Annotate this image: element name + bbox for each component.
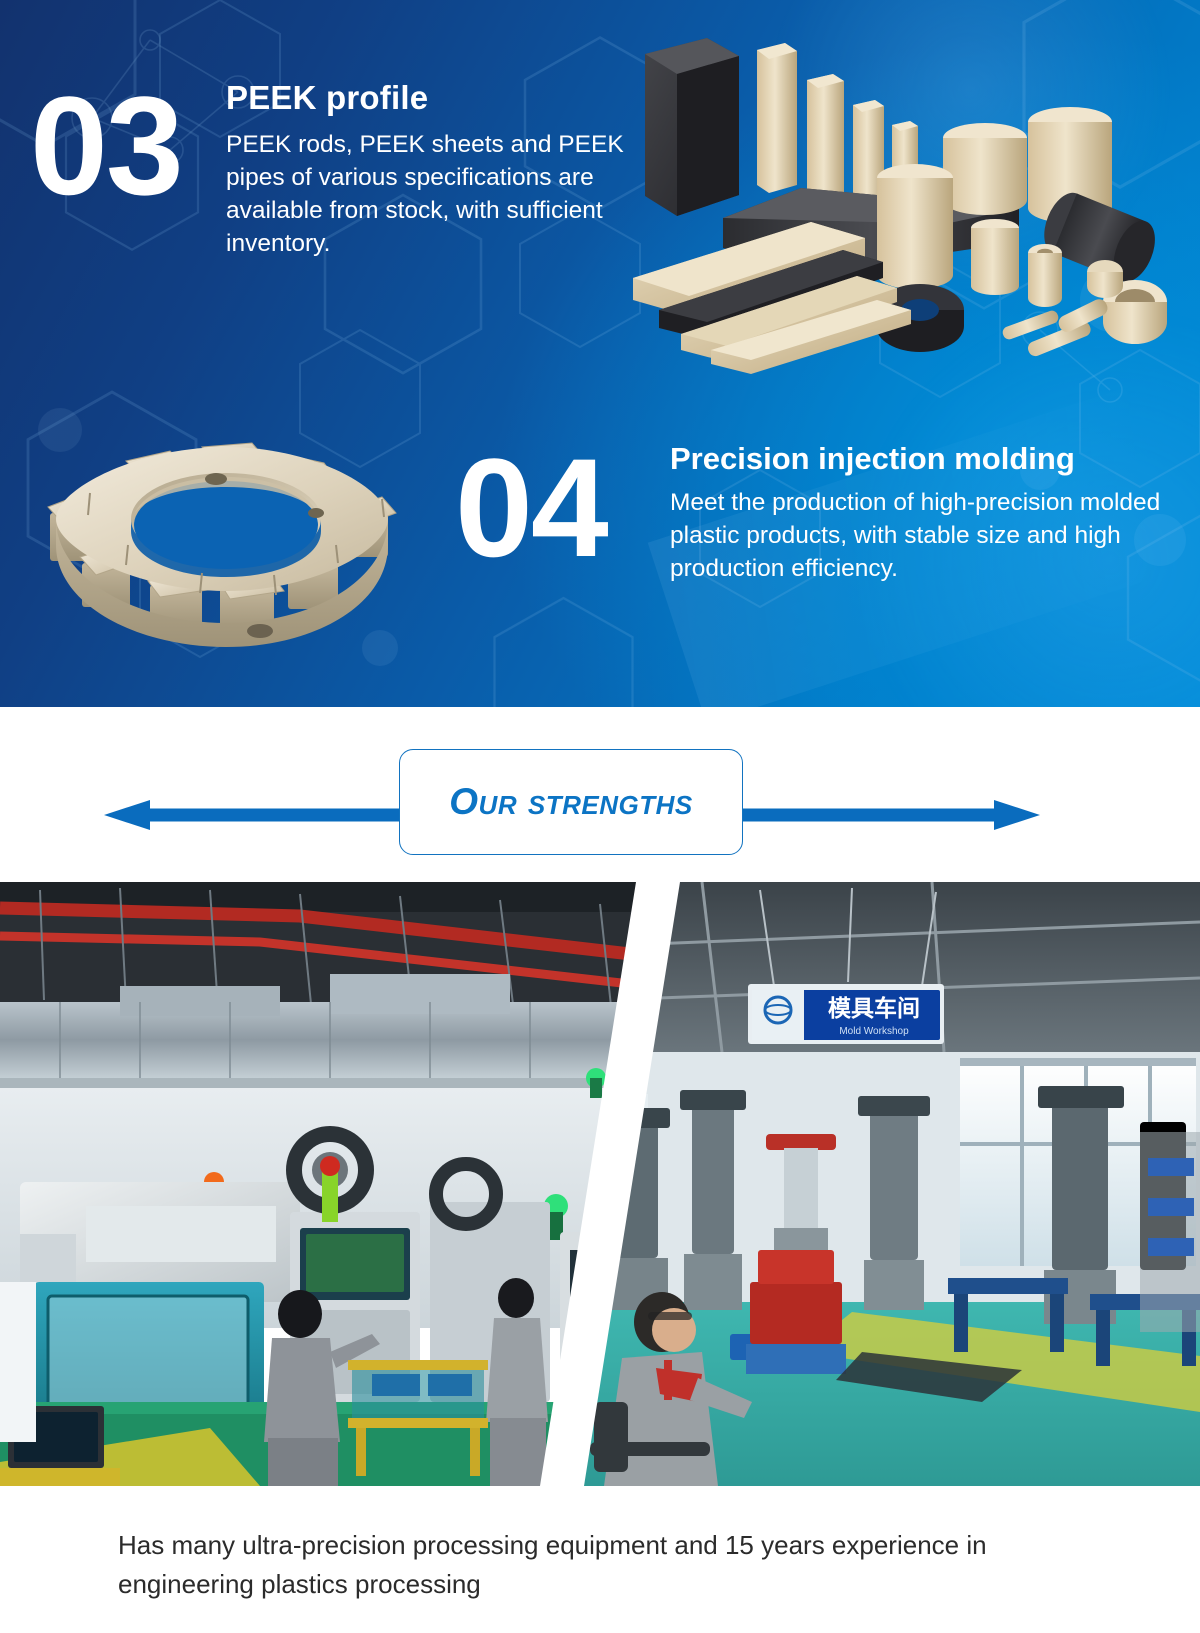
- mold-workshop-sign-en-text: Mold Workshop: [839, 1026, 909, 1037]
- peek-gear-ring-photo: [30, 395, 430, 670]
- feature-block-03: 03 PEEK profile PEEK rods, PEEK sheets a…: [30, 78, 670, 260]
- feature-number-04: 04: [455, 448, 607, 568]
- feature-body-04: Meet the production of high-precision mo…: [670, 486, 1175, 585]
- strengths-label-box: Our strengths: [399, 749, 743, 855]
- feature-title-04: Precision injection molding: [670, 440, 1175, 478]
- mold-workshop-sign-cn-text: 模具车间: [828, 995, 920, 1021]
- poster-page: 03 PEEK profile PEEK rods, PEEK sheets a…: [0, 0, 1200, 1633]
- bottom-caption: Has many ultra-precision processing equi…: [118, 1526, 1108, 1604]
- feature-block-04: 04 Precision injection molding Meet the …: [455, 440, 1175, 585]
- strengths-banner: Our strengths: [0, 707, 1200, 882]
- feature-body-03: PEEK rods, PEEK sheets and PEEK pipes of…: [226, 128, 670, 260]
- mold-workshop-photo: 模具车间 Mold Workshop: [552, 882, 1200, 1486]
- feature-panel: 03 PEEK profile PEEK rods, PEEK sheets a…: [0, 0, 1200, 707]
- peek-profile-products-photo: [615, 10, 1195, 380]
- cnc-workshop-photo: [0, 882, 648, 1486]
- feature-title-03: PEEK profile: [226, 78, 670, 118]
- workshop-photo-band: 模具车间 Mold Workshop: [0, 882, 1200, 1486]
- feature-number-03: 03: [30, 86, 182, 206]
- strengths-label: Our strengths: [449, 781, 692, 823]
